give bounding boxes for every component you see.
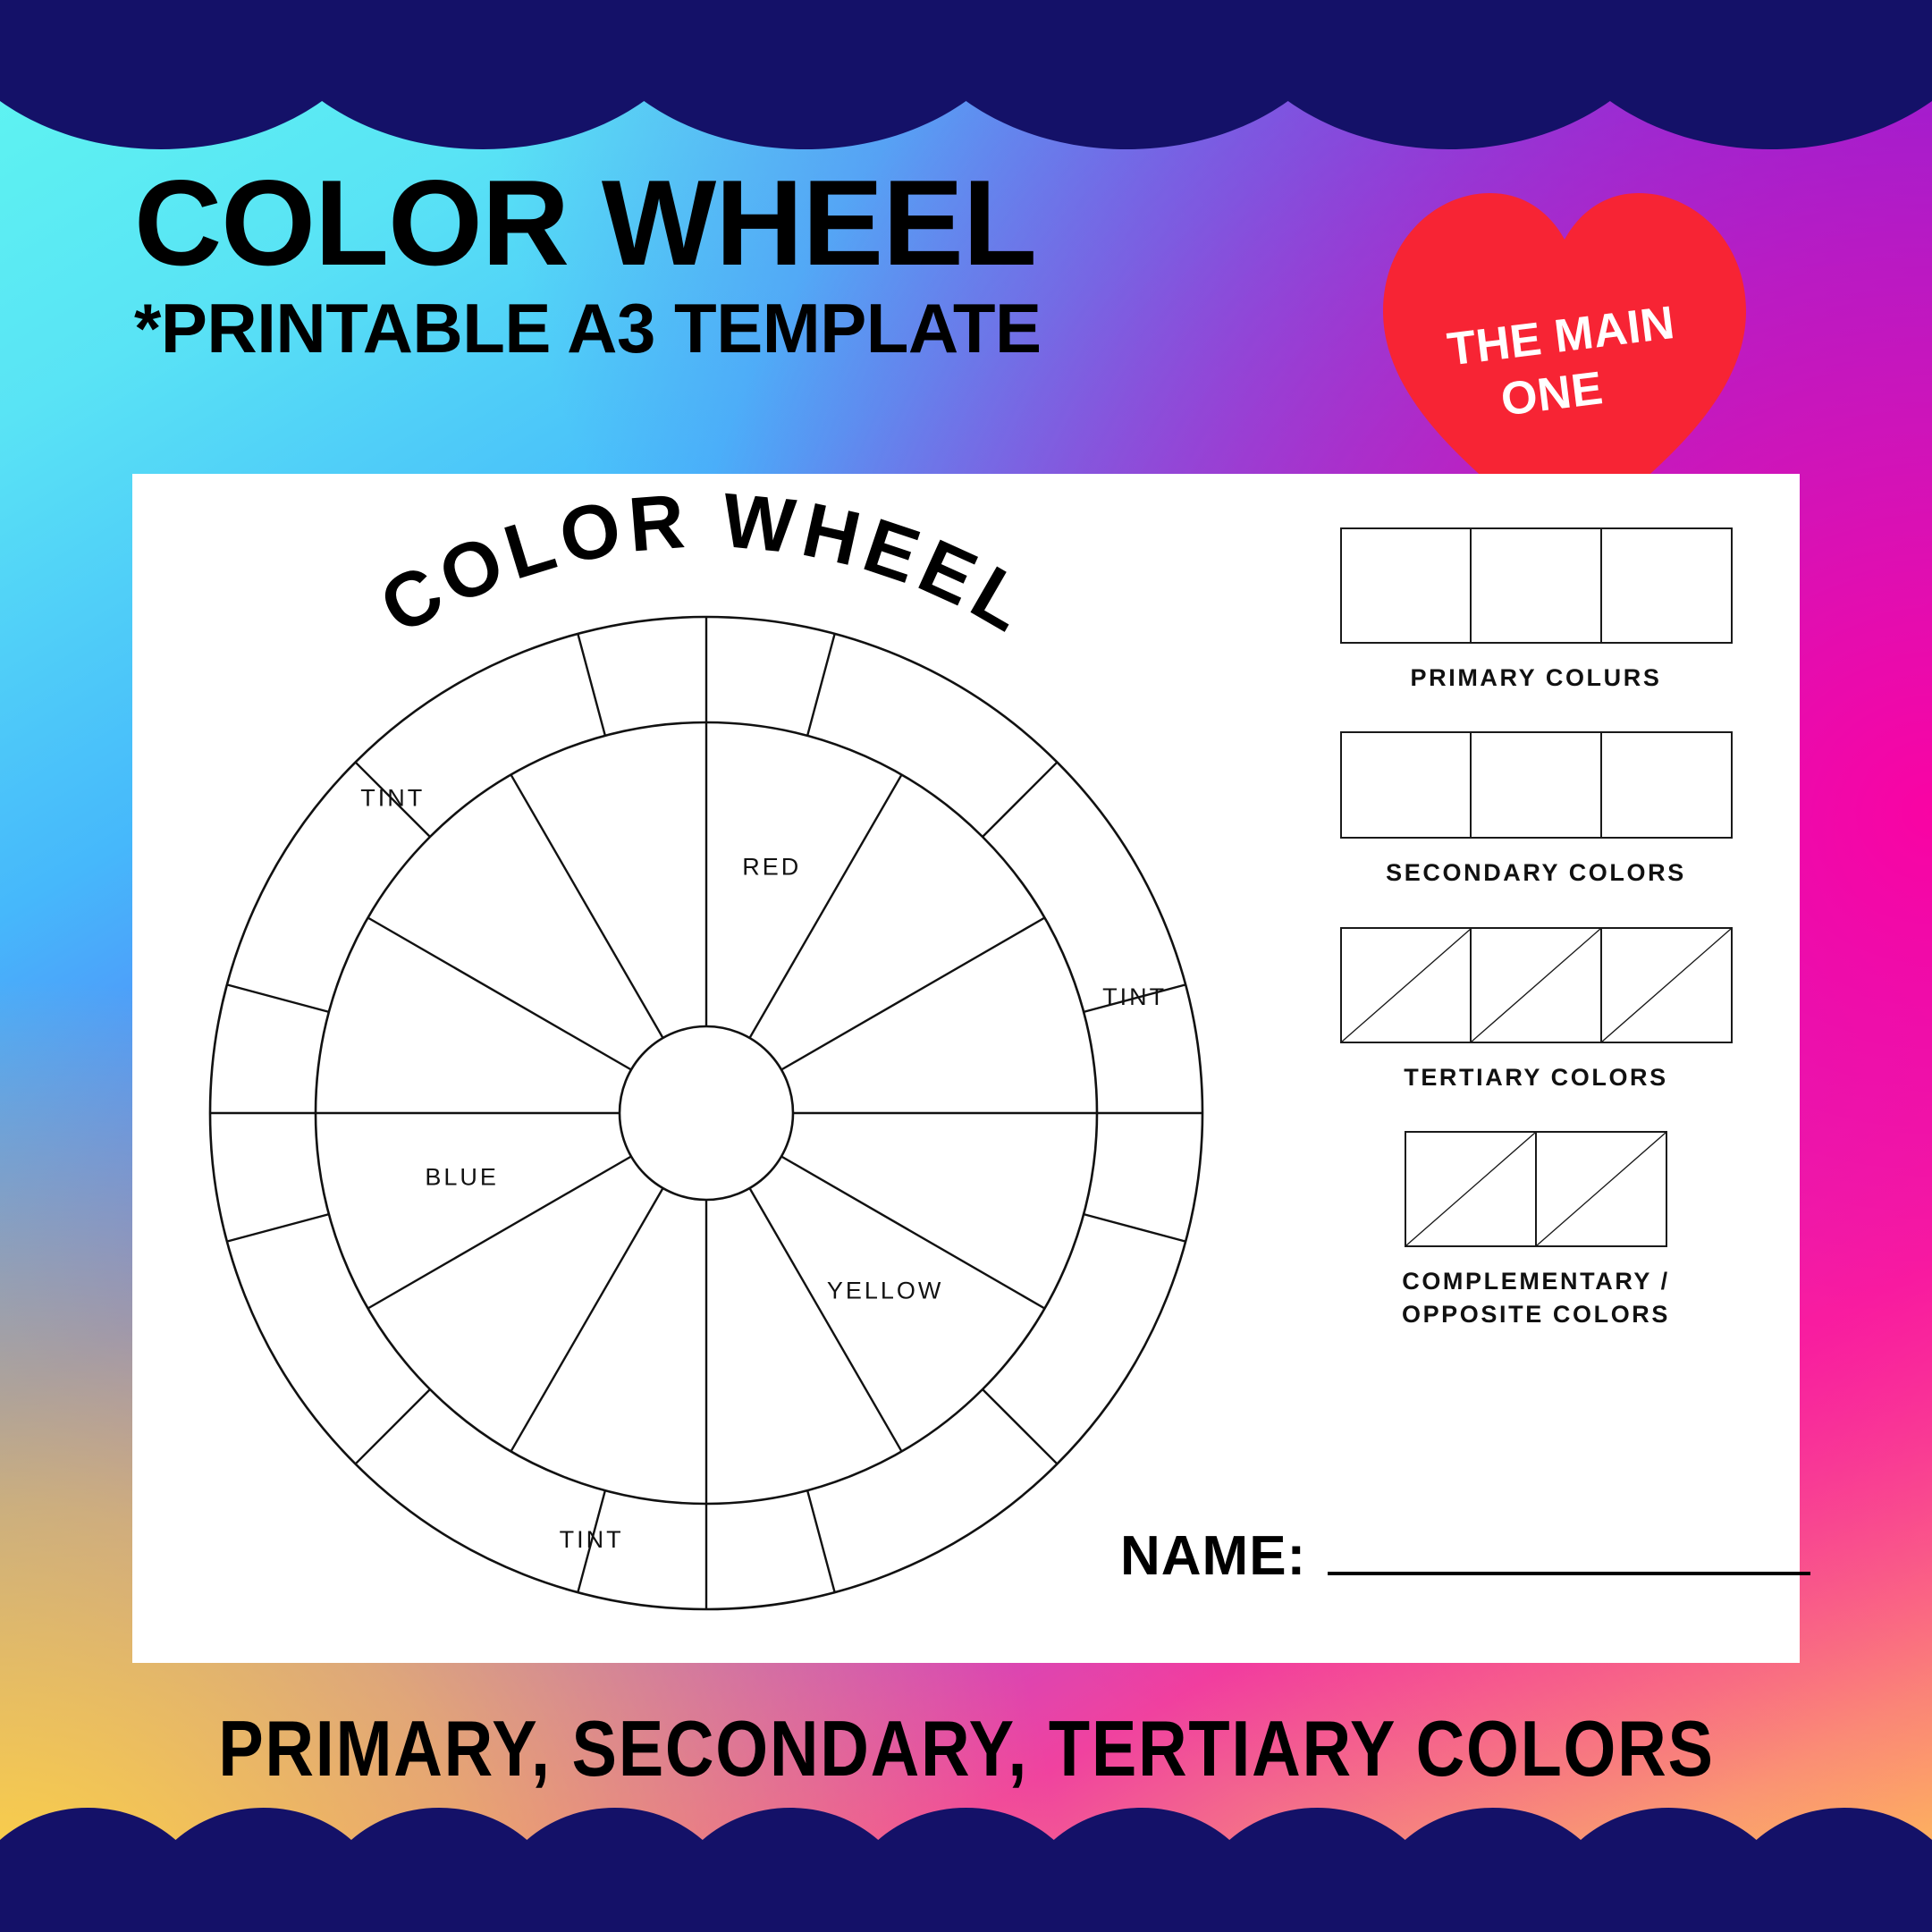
color-swatch-box[interactable] (1405, 1131, 1537, 1247)
color-swatch-box[interactable] (1535, 1131, 1667, 1247)
legend-label-line: OPPOSITE COLORS (1295, 1298, 1777, 1330)
wheel-spoke (750, 775, 902, 1038)
wheel-spoke (1084, 1214, 1185, 1242)
legend-label: PRIMARY COLURS (1295, 662, 1777, 694)
legend-label: COMPLEMENTARY /OPPOSITE COLORS (1295, 1265, 1777, 1330)
wheel-ring (620, 1026, 793, 1200)
wheel-segment-label: TINT (560, 1526, 624, 1553)
poster-header: COLOR WHEEL *PRINTABLE A3 TEMPLATE (134, 161, 1341, 367)
diagonal-divider-icon (1406, 1133, 1535, 1245)
name-field[interactable]: NAME: (1120, 1524, 1810, 1588)
top-wave-decoration (0, 0, 1932, 179)
page-subtitle: *PRINTABLE A3 TEMPLATE (134, 291, 1341, 367)
swatch-row (1295, 527, 1777, 644)
swatch-row (1295, 731, 1777, 839)
name-label: NAME: (1120, 1524, 1306, 1588)
wheel-spoke (511, 1188, 663, 1451)
color-swatch-box[interactable] (1600, 731, 1733, 839)
diagonal-divider-icon (1472, 929, 1600, 1042)
color-swatch-box[interactable] (1470, 527, 1602, 644)
legend-group: PRIMARY COLURS (1295, 527, 1777, 694)
wheel-spoke (368, 1157, 631, 1309)
legend-group: TERTIARY COLORS (1295, 927, 1777, 1093)
wheel-spoke (983, 1389, 1057, 1464)
legend-label-line: SECONDARY COLORS (1295, 856, 1777, 889)
wheel-spoke (356, 1389, 430, 1464)
poster-canvas: COLOR WHEEL *PRINTABLE A3 TEMPLATE THE M… (0, 0, 1932, 1932)
legend-label-line: TERTIARY COLORS (1295, 1061, 1777, 1093)
legend-group: COMPLEMENTARY /OPPOSITE COLORS (1295, 1131, 1777, 1330)
color-swatch-box[interactable] (1470, 927, 1602, 1043)
wheel-spoke (807, 1490, 835, 1592)
wheel-segment-label: TINT (360, 784, 425, 811)
wheel-segment-label: BLUE (425, 1163, 499, 1190)
diagonal-divider-icon (1537, 1133, 1666, 1245)
color-wheel-svg: TINTREDTINTYELLOWTINTBLUE COLOR WHEEL (132, 474, 1330, 1663)
wheel-spoke (578, 634, 605, 736)
wheel-spoke (781, 918, 1044, 1070)
wheel-segment-label: RED (742, 854, 801, 881)
name-input-line[interactable] (1328, 1572, 1810, 1575)
legend-label: SECONDARY COLORS (1295, 856, 1777, 889)
color-swatch-box[interactable] (1470, 731, 1602, 839)
diagonal-divider-icon (1342, 929, 1471, 1042)
color-swatch-box[interactable] (1600, 927, 1733, 1043)
wheel-segment-label: TINT (1102, 983, 1167, 1010)
wheel-segment-label: YELLOW (827, 1277, 944, 1303)
swatch-row (1295, 1131, 1777, 1247)
wheel-spoke (368, 918, 631, 1070)
worksheet-card: TINTREDTINTYELLOWTINTBLUE COLOR WHEEL PR… (132, 474, 1800, 1663)
color-swatch-box[interactable] (1340, 927, 1472, 1043)
page-title: COLOR WHEEL (134, 161, 1341, 285)
diagonal-divider-icon (1602, 929, 1731, 1042)
wheel-spoke (807, 634, 835, 736)
wheel-spoke (750, 1188, 902, 1451)
legend-group: SECONDARY COLORS (1295, 731, 1777, 889)
color-wheel-diagram: TINTREDTINTYELLOWTINTBLUE COLOR WHEEL (132, 474, 1330, 1663)
color-swatch-box[interactable] (1340, 731, 1472, 839)
legend-label-line: PRIMARY COLURS (1295, 662, 1777, 694)
legend-column: PRIMARY COLURSSECONDARY COLORSTERTIARY C… (1295, 527, 1777, 1368)
bottom-wave-decoration (0, 1776, 1932, 1932)
wheel-spoke (983, 763, 1057, 837)
color-swatch-box[interactable] (1600, 527, 1733, 644)
wheel-spoke (227, 984, 329, 1012)
swatch-row (1295, 927, 1777, 1043)
wheel-spoke (511, 775, 663, 1038)
color-swatch-box[interactable] (1340, 527, 1472, 644)
legend-label: TERTIARY COLORS (1295, 1061, 1777, 1093)
legend-label-line: COMPLEMENTARY / (1295, 1265, 1777, 1297)
wheel-spoke (227, 1214, 329, 1242)
